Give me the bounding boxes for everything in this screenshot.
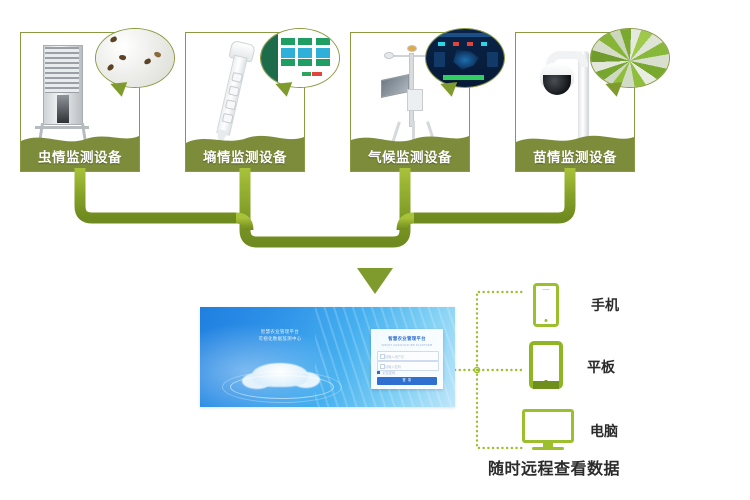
corner-notch [350, 32, 364, 38]
callout-bubble-soil [260, 28, 338, 86]
desktop-monitor-icon [522, 409, 574, 449]
username-input[interactable]: 请输入用户名 [377, 351, 439, 361]
platform-headline-line2: 可视化数据监测中心 [234, 336, 326, 343]
bubble-tail [275, 82, 293, 98]
greenhouse-interior-photo [591, 29, 669, 87]
username-placeholder: 请输入用户名 [385, 354, 404, 359]
platform-headline: 智慧农业管理平台 可视化数据监测中心 [234, 329, 326, 343]
platform-screenshot[interactable]: 智慧农业管理平台 可视化数据监测中心 智慧农业管理平台 SMART AGRICU… [200, 307, 455, 407]
client-tablet[interactable]: 平板 [529, 341, 669, 393]
bubble-tail [110, 82, 128, 98]
bottom-caption: 随时远程查看数据 [488, 455, 738, 479]
password-placeholder: 请输入密码 [385, 364, 401, 369]
login-card[interactable]: 智慧农业管理平台 SMART AGRICULTURE PLATFORM 请输入用… [371, 329, 443, 389]
remember-checkbox[interactable]: 记住密码 [377, 370, 395, 375]
callout-bubble-insect [95, 28, 173, 86]
platform-headline-line1: 智慧农业管理平台 [234, 329, 326, 336]
bubble-tail [605, 82, 623, 98]
device-label: 气候监测设备 [351, 152, 469, 166]
client-desktop[interactable]: 电脑 [522, 409, 672, 453]
device-label: 虫情监测设备 [21, 152, 139, 166]
checkbox-box [377, 371, 380, 374]
client-label: 手机 [591, 295, 619, 315]
login-title: 智慧农业管理平台 [371, 336, 443, 342]
corner-notch [515, 32, 529, 38]
device-label: 墒情监测设备 [186, 152, 304, 166]
client-phone[interactable]: 手机 [533, 283, 673, 327]
device-card-insect[interactable]: 虫情监测设备 [20, 32, 140, 172]
device-label: 苗情监测设备 [516, 152, 634, 166]
login-submit-button[interactable]: 登 录 [377, 377, 437, 385]
mobile-phone-icon [533, 283, 559, 327]
insect-closeup-photo [96, 29, 174, 87]
callout-bubble-crop [590, 28, 668, 86]
data-dashboard-screenshot [261, 29, 339, 87]
diagram-canvas: 虫情监测设备 [0, 0, 750, 500]
callout-bubble-climate [425, 28, 503, 86]
client-label: 电脑 [590, 421, 618, 441]
login-subtitle: SMART AGRICULTURE PLATFORM [371, 343, 443, 347]
tablet-icon [529, 341, 563, 389]
device-card-climate[interactable]: 气候监测设备 [350, 32, 470, 172]
bubble-tail [440, 82, 458, 98]
funnel-connector [0, 168, 750, 298]
device-card-soil[interactable]: 墒情监测设备 [185, 32, 305, 172]
corner-notch [20, 32, 34, 38]
device-card-crop[interactable]: 苗情监测设备 [515, 32, 635, 172]
platform-ring-inner [230, 375, 334, 399]
blue-map-dashboard-screenshot [426, 29, 504, 87]
corner-notch [185, 32, 199, 38]
remember-label: 记住密码 [382, 371, 395, 375]
client-label: 平板 [587, 357, 615, 377]
